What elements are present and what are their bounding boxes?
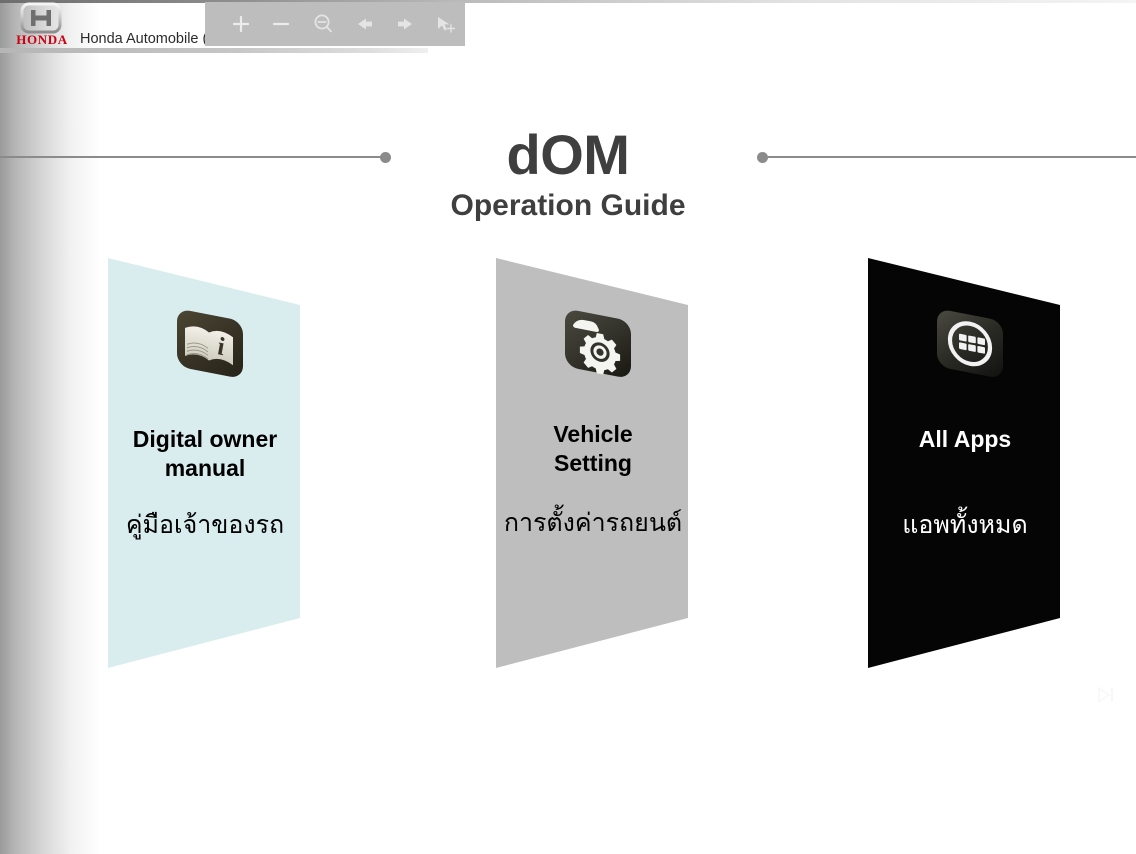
card-content: All Apps แอพทั้งหมด: [860, 250, 1070, 680]
arrow-left-button[interactable]: [345, 2, 385, 46]
skip-next-icon: [1096, 686, 1118, 704]
pointer-move-button[interactable]: [425, 2, 465, 46]
card-title: Digital owner manual: [100, 425, 310, 483]
card-vehicle-setting[interactable]: Vehicle Setting การตั้งค่ารถยนต์: [488, 250, 698, 680]
zoom-out-button[interactable]: [261, 2, 301, 46]
card-title: All Apps: [860, 425, 1070, 454]
page-subtitle: Operation Guide: [0, 188, 1136, 224]
card-content: i Digital owner manual คู่มือเจ้าของรถ: [100, 250, 310, 680]
car-gear-icon: [553, 302, 645, 382]
card-digital-owner-manual[interactable]: i Digital owner manual คู่มือเจ้าของรถ: [100, 250, 310, 680]
card-content: Vehicle Setting การตั้งค่ารถยนต์: [488, 250, 698, 680]
zoom-in-button[interactable]: [221, 2, 261, 46]
page-header: HONDA Honda Automobile (Thailand) Co.,Lt…: [0, 0, 1136, 56]
header-top-rule: [0, 0, 1136, 3]
card-native-label: คู่มือเจ้าของรถ: [100, 508, 310, 542]
viewer-toolbar: [205, 2, 465, 46]
page-title: dOM: [0, 122, 1136, 188]
svg-text:i: i: [217, 331, 225, 361]
card-title: Vehicle Setting: [488, 420, 698, 478]
honda-h-emblem-icon: [18, 2, 64, 34]
book-info-icon: i: [165, 302, 257, 382]
card-native-label: แอพทั้งหมด: [860, 508, 1070, 542]
honda-wordmark: HONDA: [4, 32, 80, 48]
arrow-right-button[interactable]: [385, 2, 425, 46]
magnifier-minus-button[interactable]: [303, 2, 343, 46]
card-all-apps[interactable]: All Apps แอพทั้งหมด: [860, 250, 1070, 680]
header-under-bar: [0, 48, 428, 53]
honda-logo: HONDA: [4, 2, 78, 50]
apps-grid-icon: [925, 302, 1017, 382]
card-native-label: การตั้งค่ารถยนต์: [488, 506, 698, 540]
